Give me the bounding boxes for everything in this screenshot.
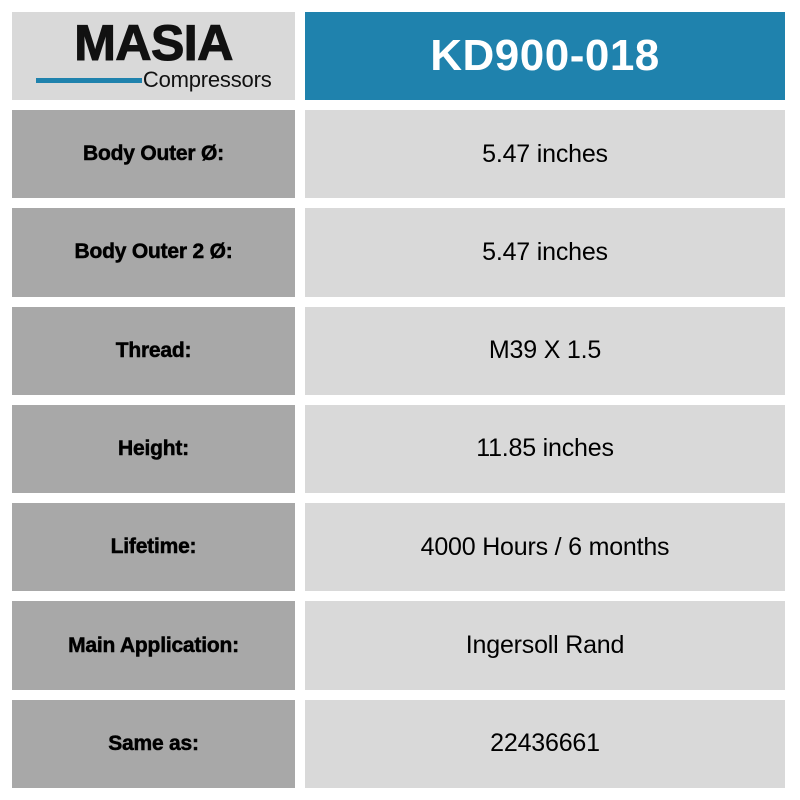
- table-row: Body Outer 2 Ø: 5.47 inches: [12, 208, 785, 296]
- spec-value-cell: 5.47 inches: [305, 208, 785, 296]
- spec-value: 22436661: [490, 729, 600, 758]
- table-row: Thread: M39 X 1.5: [12, 307, 785, 395]
- cell-spacer: [295, 307, 305, 395]
- brand-logo: MASIA Compressors: [12, 12, 295, 100]
- spec-value: 5.47 inches: [482, 140, 608, 169]
- spec-label: Main Application:: [68, 634, 239, 658]
- spec-label-cell: Main Application:: [12, 601, 295, 689]
- table-row: Main Application: Ingersoll Rand: [12, 601, 785, 689]
- part-number-banner: KD900-018: [305, 12, 785, 100]
- spec-value: 4000 Hours / 6 months: [421, 533, 670, 562]
- cell-spacer: [295, 405, 305, 493]
- brand-wordmark: MASIA: [74, 19, 233, 68]
- spec-value: 5.47 inches: [482, 238, 608, 267]
- spec-label-cell: Same as:: [12, 700, 295, 788]
- product-spec-card: MASIA Compressors KD900-018 Body Outer Ø…: [0, 0, 800, 800]
- cell-spacer: [295, 601, 305, 689]
- spec-label-cell: Thread:: [12, 307, 295, 395]
- spec-value-cell: 22436661: [305, 700, 785, 788]
- cell-spacer: [295, 110, 305, 198]
- spec-label-cell: Height:: [12, 405, 295, 493]
- spec-table: Body Outer Ø: 5.47 inches Body Outer 2 Ø…: [12, 110, 785, 788]
- spec-label: Body Outer Ø:: [83, 142, 224, 166]
- cell-spacer: [295, 503, 305, 591]
- spec-value-cell: Ingersoll Rand: [305, 601, 785, 689]
- spec-label: Thread:: [116, 339, 192, 363]
- spec-label: Lifetime:: [111, 535, 197, 559]
- spec-value-cell: 5.47 inches: [305, 110, 785, 198]
- part-number-title: KD900-018: [430, 31, 660, 81]
- spec-label-cell: Body Outer 2 Ø:: [12, 208, 295, 296]
- table-row: Height: 11.85 inches: [12, 405, 785, 493]
- table-row: Same as: 22436661: [12, 700, 785, 788]
- spec-value-cell: 4000 Hours / 6 months: [305, 503, 785, 591]
- table-row: Body Outer Ø: 5.47 inches: [12, 110, 785, 198]
- spec-value: M39 X 1.5: [489, 336, 601, 365]
- card-header: MASIA Compressors KD900-018: [12, 12, 785, 100]
- spec-label: Same as:: [108, 732, 199, 756]
- spec-value-cell: M39 X 1.5: [305, 307, 785, 395]
- spec-value: 11.85 inches: [476, 434, 614, 463]
- brand-subtitle: Compressors: [143, 69, 272, 91]
- table-row: Lifetime: 4000 Hours / 6 months: [12, 503, 785, 591]
- header-spacer: [295, 12, 305, 100]
- spec-label: Body Outer 2 Ø:: [74, 240, 232, 264]
- spec-label-cell: Body Outer Ø:: [12, 110, 295, 198]
- spec-value-cell: 11.85 inches: [305, 405, 785, 493]
- cell-spacer: [295, 208, 305, 296]
- horizontal-rule-icon: [36, 78, 142, 83]
- spec-label: Height:: [118, 437, 189, 461]
- spec-value: Ingersoll Rand: [466, 631, 624, 660]
- cell-spacer: [295, 700, 305, 788]
- spec-label-cell: Lifetime:: [12, 503, 295, 591]
- brand-subtitle-row: Compressors: [36, 69, 272, 91]
